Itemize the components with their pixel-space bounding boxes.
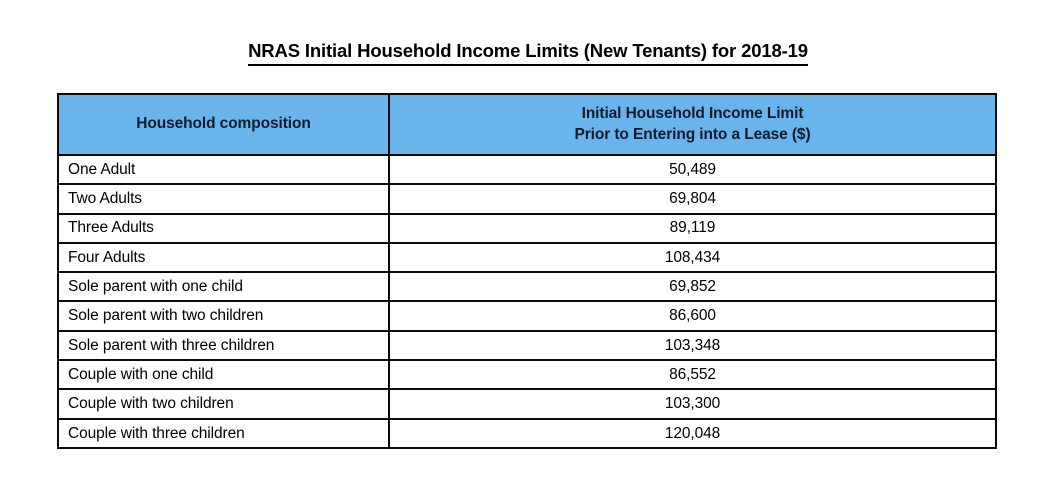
cell-composition: Two Adults: [58, 184, 389, 213]
column-header-household-composition-label: Household composition: [59, 114, 388, 135]
cell-income-limit: 120,048: [389, 419, 996, 448]
table-row: Four Adults 108,434: [58, 243, 996, 272]
cell-composition: Four Adults: [58, 243, 389, 272]
cell-income-limit: 69,804: [389, 184, 996, 213]
table-row: Couple with one child 86,552: [58, 360, 996, 389]
table-row: Sole parent with two children 86,600: [58, 301, 996, 330]
table-row: Sole parent with three children 103,348: [58, 331, 996, 360]
table-row: One Adult 50,489: [58, 155, 996, 184]
cell-income-limit: 50,489: [389, 155, 996, 184]
cell-composition: Sole parent with two children: [58, 301, 389, 330]
cell-composition: Couple with one child: [58, 360, 389, 389]
cell-income-limit: 69,852: [389, 272, 996, 301]
page-title-container: NRAS Initial Household Income Limits (Ne…: [0, 40, 1056, 66]
cell-income-limit: 103,348: [389, 331, 996, 360]
cell-income-limit: 86,552: [389, 360, 996, 389]
table-body: One Adult 50,489 Two Adults 69,804 Three…: [58, 155, 996, 448]
table-row: Couple with two children 103,300: [58, 389, 996, 418]
income-limits-table: Household composition Initial Household …: [57, 93, 997, 449]
table-row: Three Adults 89,119: [58, 214, 996, 243]
cell-composition: Couple with two children: [58, 389, 389, 418]
table-header: Household composition Initial Household …: [58, 94, 996, 155]
page-root: NRAS Initial Household Income Limits (Ne…: [0, 0, 1056, 493]
column-header-income-limit-line1: Initial Household Income Limit: [390, 104, 995, 125]
page-title: NRAS Initial Household Income Limits (Ne…: [248, 40, 808, 66]
income-limits-table-container: Household composition Initial Household …: [57, 93, 995, 449]
cell-composition: Sole parent with three children: [58, 331, 389, 360]
cell-composition: One Adult: [58, 155, 389, 184]
column-header-income-limit: Initial Household Income Limit Prior to …: [389, 94, 996, 155]
table-row: Two Adults 69,804: [58, 184, 996, 213]
column-header-household-composition: Household composition: [58, 94, 389, 155]
cell-composition: Couple with three children: [58, 419, 389, 448]
table-row: Sole parent with one child 69,852: [58, 272, 996, 301]
column-header-income-limit-line2: Prior to Entering into a Lease ($): [390, 125, 995, 146]
table-header-row: Household composition Initial Household …: [58, 94, 996, 155]
cell-income-limit: 86,600: [389, 301, 996, 330]
cell-income-limit: 89,119: [389, 214, 996, 243]
table-row: Couple with three children 120,048: [58, 419, 996, 448]
cell-income-limit: 103,300: [389, 389, 996, 418]
cell-income-limit: 108,434: [389, 243, 996, 272]
cell-composition: Sole parent with one child: [58, 272, 389, 301]
cell-composition: Three Adults: [58, 214, 389, 243]
